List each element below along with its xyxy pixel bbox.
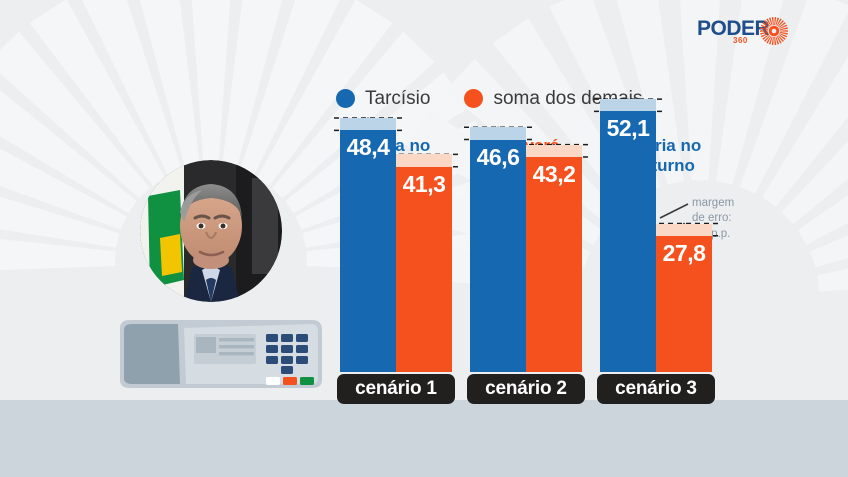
bar-value-label: 41,3 xyxy=(396,171,452,198)
margin-of-error-band xyxy=(396,154,452,166)
category-label-scenario-2: cenário 2 xyxy=(467,374,585,404)
bar-tarcisio-scenario-1: 48,4 xyxy=(340,118,396,372)
bar-fill xyxy=(526,157,582,372)
bar-soma-dos-demais-scenario-2: 43,2 xyxy=(526,145,582,372)
bar-value-label: 27,8 xyxy=(656,240,712,267)
bar-value-label: 52,1 xyxy=(600,115,656,142)
margin-of-error-band xyxy=(526,145,582,157)
bar-fill xyxy=(600,111,656,372)
category-label-scenario-3: cenário 3 xyxy=(597,374,715,404)
bar-soma-dos-demais-scenario-3: 27,8 xyxy=(656,224,712,372)
margin-of-error-band xyxy=(340,118,396,130)
margin-of-error-band xyxy=(470,127,526,139)
bar-value-label: 43,2 xyxy=(526,161,582,188)
bar-fill xyxy=(340,130,396,372)
margin-of-error-band xyxy=(600,99,656,111)
bar-value-label: 46,6 xyxy=(470,144,526,171)
bar-chart: 48,441,3cenário 146,643,2cenário 252,127… xyxy=(0,0,848,477)
category-label-scenario-1: cenário 1 xyxy=(337,374,455,404)
bar-fill xyxy=(470,140,526,372)
bar-tarcisio-scenario-2: 46,6 xyxy=(470,127,526,372)
infographic-canvas: PODER 360 xyxy=(0,0,848,477)
bar-soma-dos-demais-scenario-1: 41,3 xyxy=(396,154,452,372)
bar-value-label: 48,4 xyxy=(340,134,396,161)
margin-of-error-band xyxy=(656,224,712,236)
bar-tarcisio-scenario-3: 52,1 xyxy=(600,99,656,372)
